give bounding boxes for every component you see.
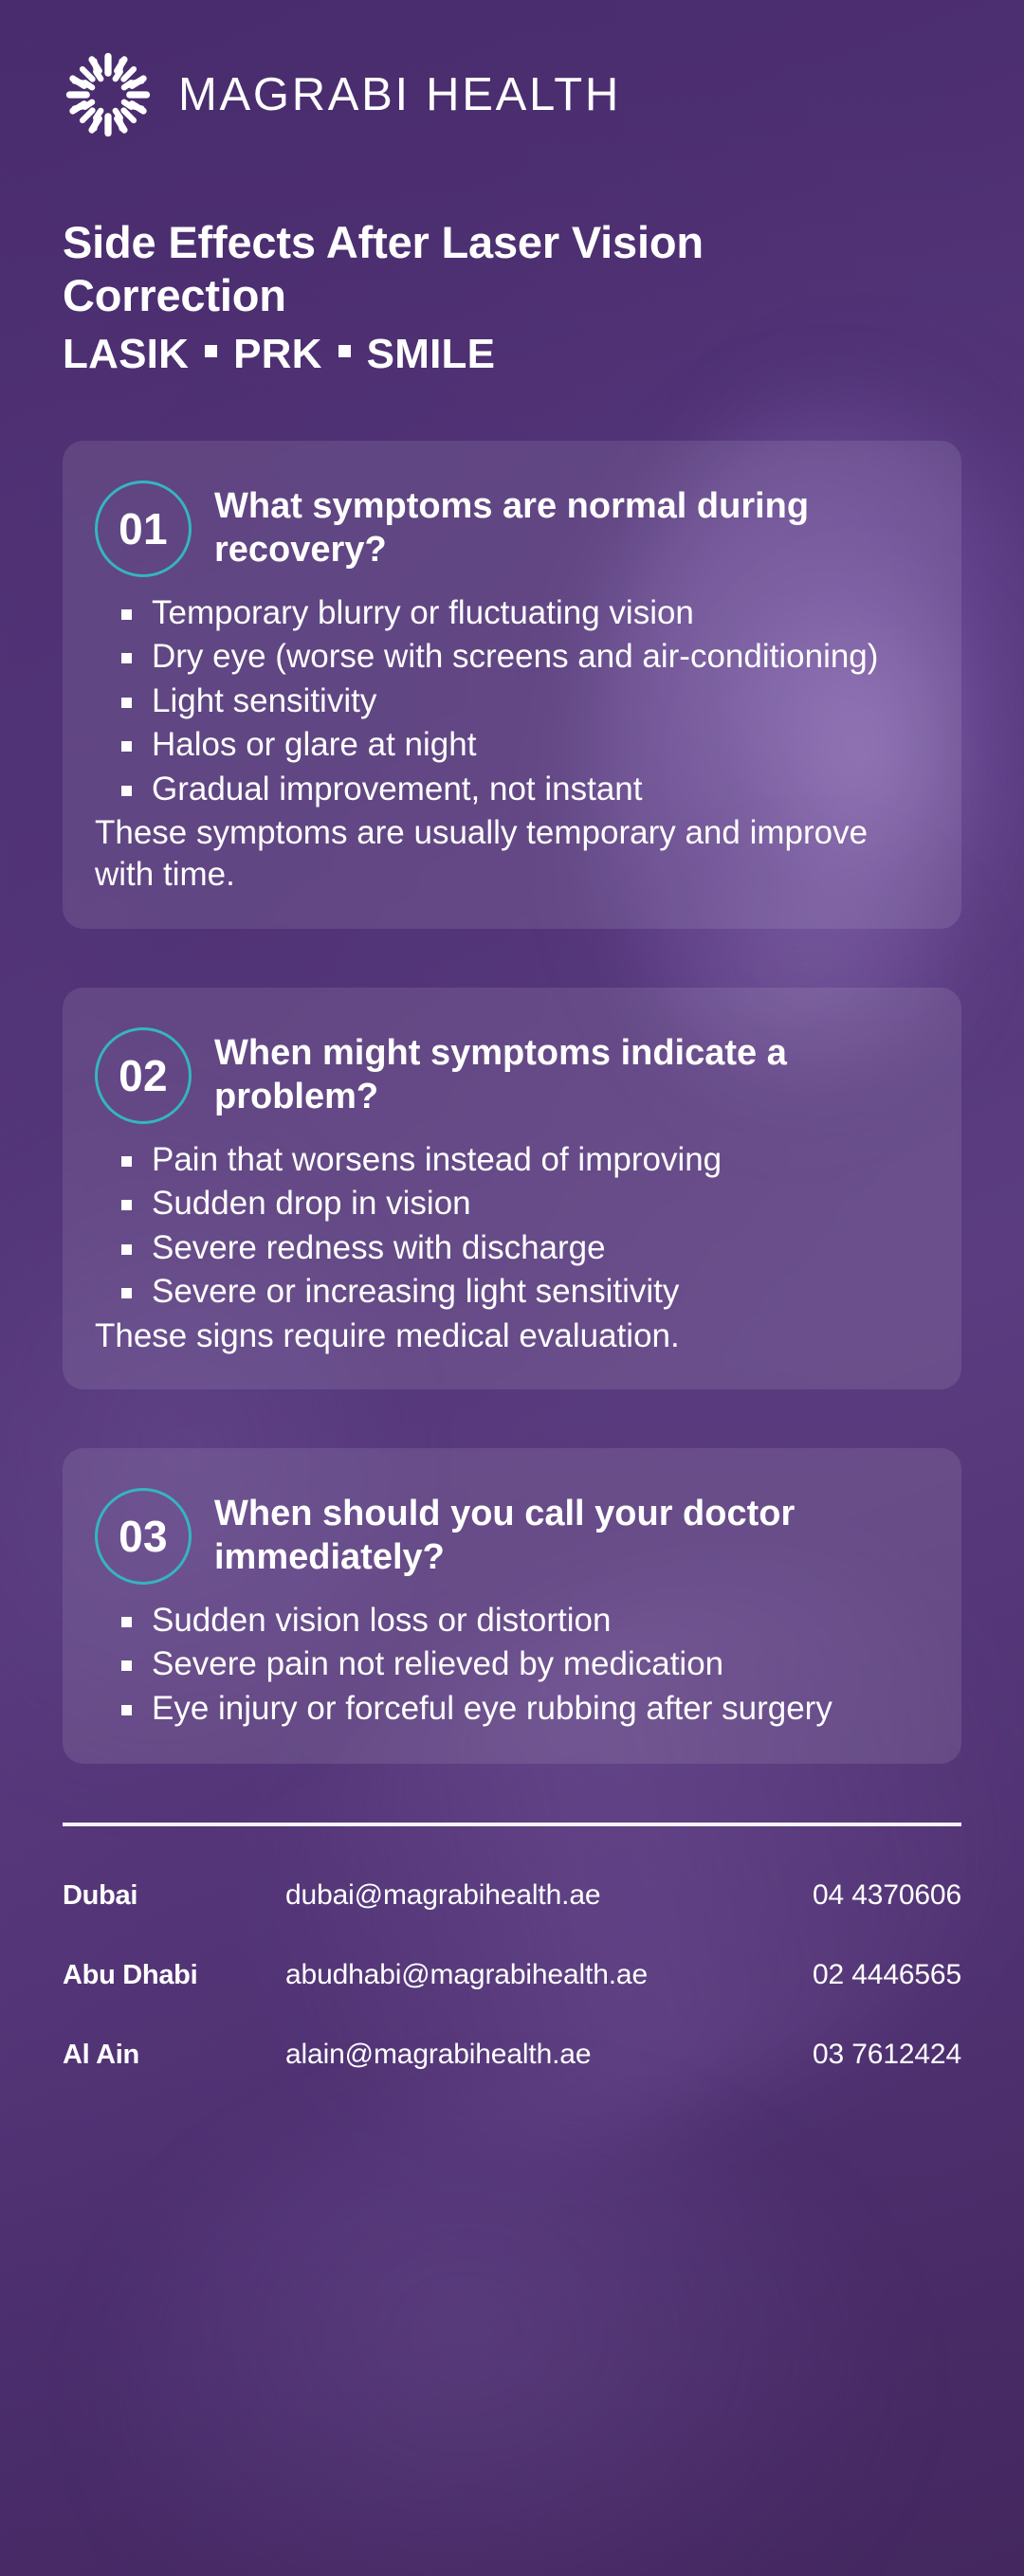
procedures-line: LASIK PRK SMILE [63, 331, 961, 378]
list-item: Severe redness with discharge [95, 1227, 929, 1269]
faq-card-header: 02 When might symptoms indicate a proble… [95, 1022, 929, 1124]
contact-email[interactable]: dubai@magrabihealth.ae [285, 1879, 758, 1912]
faq-card-body: Temporary blurry or fluctuating vision D… [95, 592, 929, 897]
contact-phone[interactable]: 04 4370606 [758, 1879, 961, 1912]
faq-card-header: 03 When should you call your doctor imme… [95, 1482, 929, 1585]
infographic-poster: MAGRABI HEALTH Side Effects After Laser … [0, 0, 1024, 2576]
footer-divider [63, 1823, 961, 1826]
contact-row: Abu Dhabi abudhabi@magrabihealth.ae 02 4… [63, 1959, 961, 1991]
headline-block: Side Effects After Laser Vision Correcti… [63, 216, 961, 378]
page-title: Side Effects After Laser Vision Correcti… [63, 216, 821, 323]
contact-email[interactable]: abudhabi@magrabihealth.ae [285, 1959, 758, 1991]
list-item: Light sensitivity [95, 680, 929, 722]
faq-card-list: 01 What symptoms are normal during recov… [63, 441, 961, 1765]
faq-card-header: 01 What symptoms are normal during recov… [95, 475, 929, 577]
step-number-badge: 03 [95, 1488, 192, 1585]
square-separator-icon [205, 345, 217, 357]
procedure-prk: PRK [233, 331, 322, 378]
list-item: Dry eye (worse with screens and air-cond… [95, 636, 929, 678]
contact-row: Al Ain alain@magrabihealth.ae 03 7612424 [63, 2039, 961, 2071]
faq-note: These symptoms are usually temporary and… [95, 812, 929, 897]
step-number: 01 [119, 503, 168, 554]
faq-question: When should you call your doctor immedia… [214, 1482, 929, 1580]
contact-city: Abu Dhabi [63, 1960, 285, 1991]
contact-city: Al Ain [63, 2040, 285, 2071]
step-number: 03 [119, 1511, 168, 1562]
background-ghost-bottom [114, 2102, 891, 2576]
poster-content: MAGRABI HEALTH Side Effects After Laser … [0, 0, 1024, 2109]
list-item: Pain that worsens instead of improving [95, 1139, 929, 1181]
contact-email[interactable]: alain@magrabihealth.ae [285, 2039, 758, 2071]
list-item: Temporary blurry or fluctuating vision [95, 592, 929, 634]
faq-card-body: Sudden vision loss or distortion Severe … [95, 1600, 929, 1730]
contact-row: Dubai dubai@magrabihealth.ae 04 4370606 [63, 1879, 961, 1912]
step-number: 02 [119, 1050, 168, 1101]
faq-card: 03 When should you call your doctor imme… [63, 1448, 961, 1764]
warning-sign-list: Pain that worsens instead of improving S… [95, 1139, 929, 1314]
list-item: Sudden vision loss or distortion [95, 1600, 929, 1642]
symptom-list: Temporary blurry or fluctuating vision D… [95, 592, 929, 810]
step-number-badge: 02 [95, 1027, 192, 1124]
list-item: Sudden drop in vision [95, 1183, 929, 1225]
faq-card: 02 When might symptoms indicate a proble… [63, 988, 961, 1389]
square-separator-icon [338, 345, 351, 357]
list-item: Severe or increasing light sensitivity [95, 1271, 929, 1313]
faq-card-body: Pain that worsens instead of improving S… [95, 1139, 929, 1357]
list-item: Severe pain not relieved by medication [95, 1643, 929, 1685]
faq-card: 01 What symptoms are normal during recov… [63, 441, 961, 929]
step-number-badge: 01 [95, 481, 192, 577]
contact-phone[interactable]: 03 7612424 [758, 2039, 961, 2071]
list-item: Eye injury or forceful eye rubbing after… [95, 1688, 929, 1730]
faq-question: When might symptoms indicate a problem? [214, 1022, 929, 1119]
emergency-list: Sudden vision loss or distortion Severe … [95, 1600, 929, 1730]
brand-lockup: MAGRABI HEALTH [63, 0, 961, 140]
contact-footer: Dubai dubai@magrabihealth.ae 04 4370606 … [63, 1823, 961, 2109]
contact-phone[interactable]: 02 4446565 [758, 1959, 961, 1991]
brand-name: MAGRABI HEALTH [178, 68, 621, 121]
contact-city: Dubai [63, 1880, 285, 1912]
faq-note: These signs require medical evaluation. [95, 1315, 929, 1357]
list-item: Gradual improvement, not instant [95, 769, 929, 810]
procedure-lasik: LASIK [63, 331, 189, 378]
magrabi-snowflake-logo-icon [63, 49, 154, 140]
list-item: Halos or glare at night [95, 724, 929, 766]
faq-question: What symptoms are normal during recovery… [214, 475, 929, 572]
procedure-smile: SMILE [367, 331, 496, 378]
